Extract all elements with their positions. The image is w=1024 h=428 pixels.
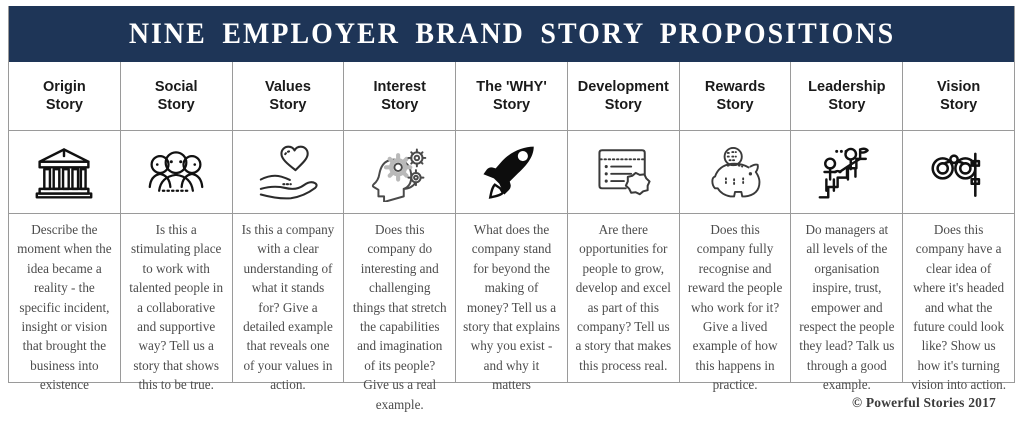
header-line-1: Development bbox=[578, 79, 669, 95]
people-group-icon bbox=[145, 141, 207, 203]
poster-page: NINE EMPLOYER BRAND STORY PROPOSITIONS O… bbox=[0, 0, 1024, 428]
header-line-1: The 'WHY' bbox=[476, 79, 547, 95]
header-line-1: Leadership bbox=[808, 79, 885, 95]
icon-cell-rewards-story bbox=[680, 131, 792, 213]
body-text: Describe the moment when the idea became… bbox=[16, 220, 113, 395]
body-cell-origin-story: Describe the moment when the idea became… bbox=[9, 214, 121, 382]
body-text: Is this a stimulating place to work with… bbox=[128, 220, 225, 395]
body-text: Does this company fully recognise and re… bbox=[687, 220, 784, 395]
header-row: Origin Story Social Story Values Story I… bbox=[9, 62, 1014, 130]
header-line-2: Story bbox=[940, 97, 977, 113]
body-cell-rewards-story: Does this company fully recognise and re… bbox=[680, 214, 792, 382]
header-line-1: Rewards bbox=[705, 79, 765, 95]
page-title: NINE EMPLOYER BRAND STORY PROPOSITIONS bbox=[128, 17, 894, 51]
column-header-values-story[interactable]: Values Story bbox=[233, 62, 345, 130]
header-line-2: Story bbox=[605, 97, 642, 113]
body-text: Are there opportunities for people to gr… bbox=[575, 220, 672, 375]
body-cell-values-story: Is this a company with a clear understan… bbox=[233, 214, 345, 382]
header-line-1: Social bbox=[155, 79, 198, 95]
icon-cell-interest-story bbox=[344, 131, 456, 213]
header-line-2: Story bbox=[493, 97, 530, 113]
column-header-rewards-story[interactable]: Rewards Story bbox=[680, 62, 792, 130]
header-line-1: Interest bbox=[374, 79, 426, 95]
body-text: Do managers at all levels of the organis… bbox=[798, 220, 895, 395]
body-cell-development-story: Are there opportunities for people to gr… bbox=[568, 214, 680, 382]
header-line-2: Story bbox=[158, 97, 195, 113]
header-label: Origin Story bbox=[43, 78, 86, 114]
header-line-1: Origin bbox=[43, 79, 86, 95]
icon-cell-development-story bbox=[568, 131, 680, 213]
body-row: Describe the moment when the idea became… bbox=[9, 214, 1014, 382]
header-label: Vision Story bbox=[937, 78, 980, 114]
header-line-2: Story bbox=[381, 97, 418, 113]
header-line-2: Story bbox=[46, 97, 83, 113]
body-cell-interest-story: Does this company do interesting and cha… bbox=[344, 214, 456, 382]
column-header-why-story[interactable]: The 'WHY' Story bbox=[456, 62, 568, 130]
helping-hand-stairs-icon bbox=[816, 141, 878, 203]
column-header-vision-story[interactable]: Vision Story bbox=[903, 62, 1014, 130]
header-label: The 'WHY' Story bbox=[476, 78, 547, 114]
icon-row bbox=[9, 130, 1014, 214]
icon-cell-vision-story bbox=[903, 131, 1014, 213]
propositions-table: NINE EMPLOYER BRAND STORY PROPOSITIONS O… bbox=[8, 6, 1015, 383]
header-line-1: Values bbox=[265, 79, 311, 95]
document-checklist-badge-icon bbox=[592, 141, 654, 203]
icon-cell-why-story bbox=[456, 131, 568, 213]
body-cell-why-story: What does the company stand for beyond t… bbox=[456, 214, 568, 382]
copyright-notice: © Powerful Stories 2017 bbox=[852, 395, 996, 411]
body-text: What does the company stand for beyond t… bbox=[463, 220, 560, 395]
header-line-2: Story bbox=[269, 97, 306, 113]
header-line-2: Story bbox=[828, 97, 865, 113]
body-text: Is this a company with a clear understan… bbox=[240, 220, 337, 395]
header-line-2: Story bbox=[717, 97, 754, 113]
header-label: Social Story bbox=[155, 78, 198, 114]
body-cell-leadership-story: Do managers at all levels of the organis… bbox=[791, 214, 903, 382]
piggy-bank-icon bbox=[704, 141, 766, 203]
rocket-icon bbox=[481, 141, 543, 203]
column-header-leadership-story[interactable]: Leadership Story bbox=[791, 62, 903, 130]
body-text: Does this company do interesting and cha… bbox=[351, 220, 448, 414]
body-text: Does this company have a clear idea of w… bbox=[910, 220, 1007, 395]
head-with-gears-icon bbox=[369, 141, 431, 203]
greek-temple-icon bbox=[33, 141, 95, 203]
header-label: Values Story bbox=[265, 78, 311, 114]
column-header-development-story[interactable]: Development Story bbox=[568, 62, 680, 130]
icon-cell-values-story bbox=[233, 131, 345, 213]
icon-cell-origin-story bbox=[9, 131, 121, 213]
header-label: Rewards Story bbox=[705, 78, 765, 114]
header-label: Leadership Story bbox=[808, 78, 885, 114]
header-line-1: Vision bbox=[937, 79, 980, 95]
icon-cell-leadership-story bbox=[791, 131, 903, 213]
binoculars-icon bbox=[928, 141, 990, 203]
heart-in-hand-icon bbox=[257, 141, 319, 203]
body-cell-social-story: Is this a stimulating place to work with… bbox=[121, 214, 233, 382]
body-cell-vision-story: Does this company have a clear idea of w… bbox=[903, 214, 1014, 382]
header-label: Development Story bbox=[578, 78, 669, 114]
column-header-interest-story[interactable]: Interest Story bbox=[344, 62, 456, 130]
column-header-origin-story[interactable]: Origin Story bbox=[9, 62, 121, 130]
header-label: Interest Story bbox=[374, 78, 426, 114]
column-header-social-story[interactable]: Social Story bbox=[121, 62, 233, 130]
title-banner: NINE EMPLOYER BRAND STORY PROPOSITIONS bbox=[9, 6, 1014, 62]
icon-cell-social-story bbox=[121, 131, 233, 213]
